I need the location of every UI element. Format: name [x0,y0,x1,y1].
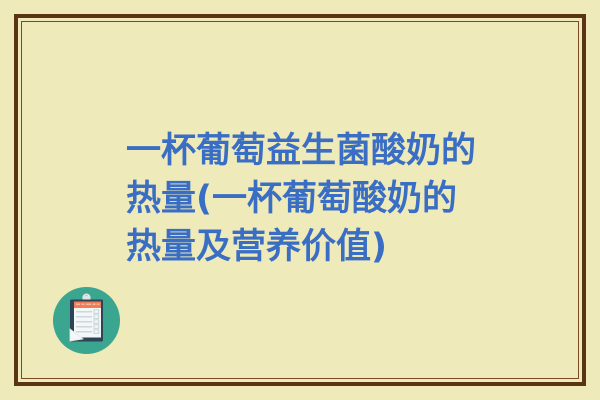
poster-canvas: 一杯葡萄益生菌酸奶的 热量(一杯葡萄酸奶的 热量及营养价值) [0,0,600,400]
clipboard-icon [53,287,120,354]
page-title: 一杯葡萄益生菌酸奶的 热量(一杯葡萄酸奶的 热量及营养价值) [126,127,526,271]
clipboard-badge [53,287,120,354]
title-line-3: 热量及营养价值) [126,223,526,271]
title-line-2: 热量(一杯葡萄酸奶的 [126,175,526,223]
title-line-1: 一杯葡萄益生菌酸奶的 [126,127,526,175]
